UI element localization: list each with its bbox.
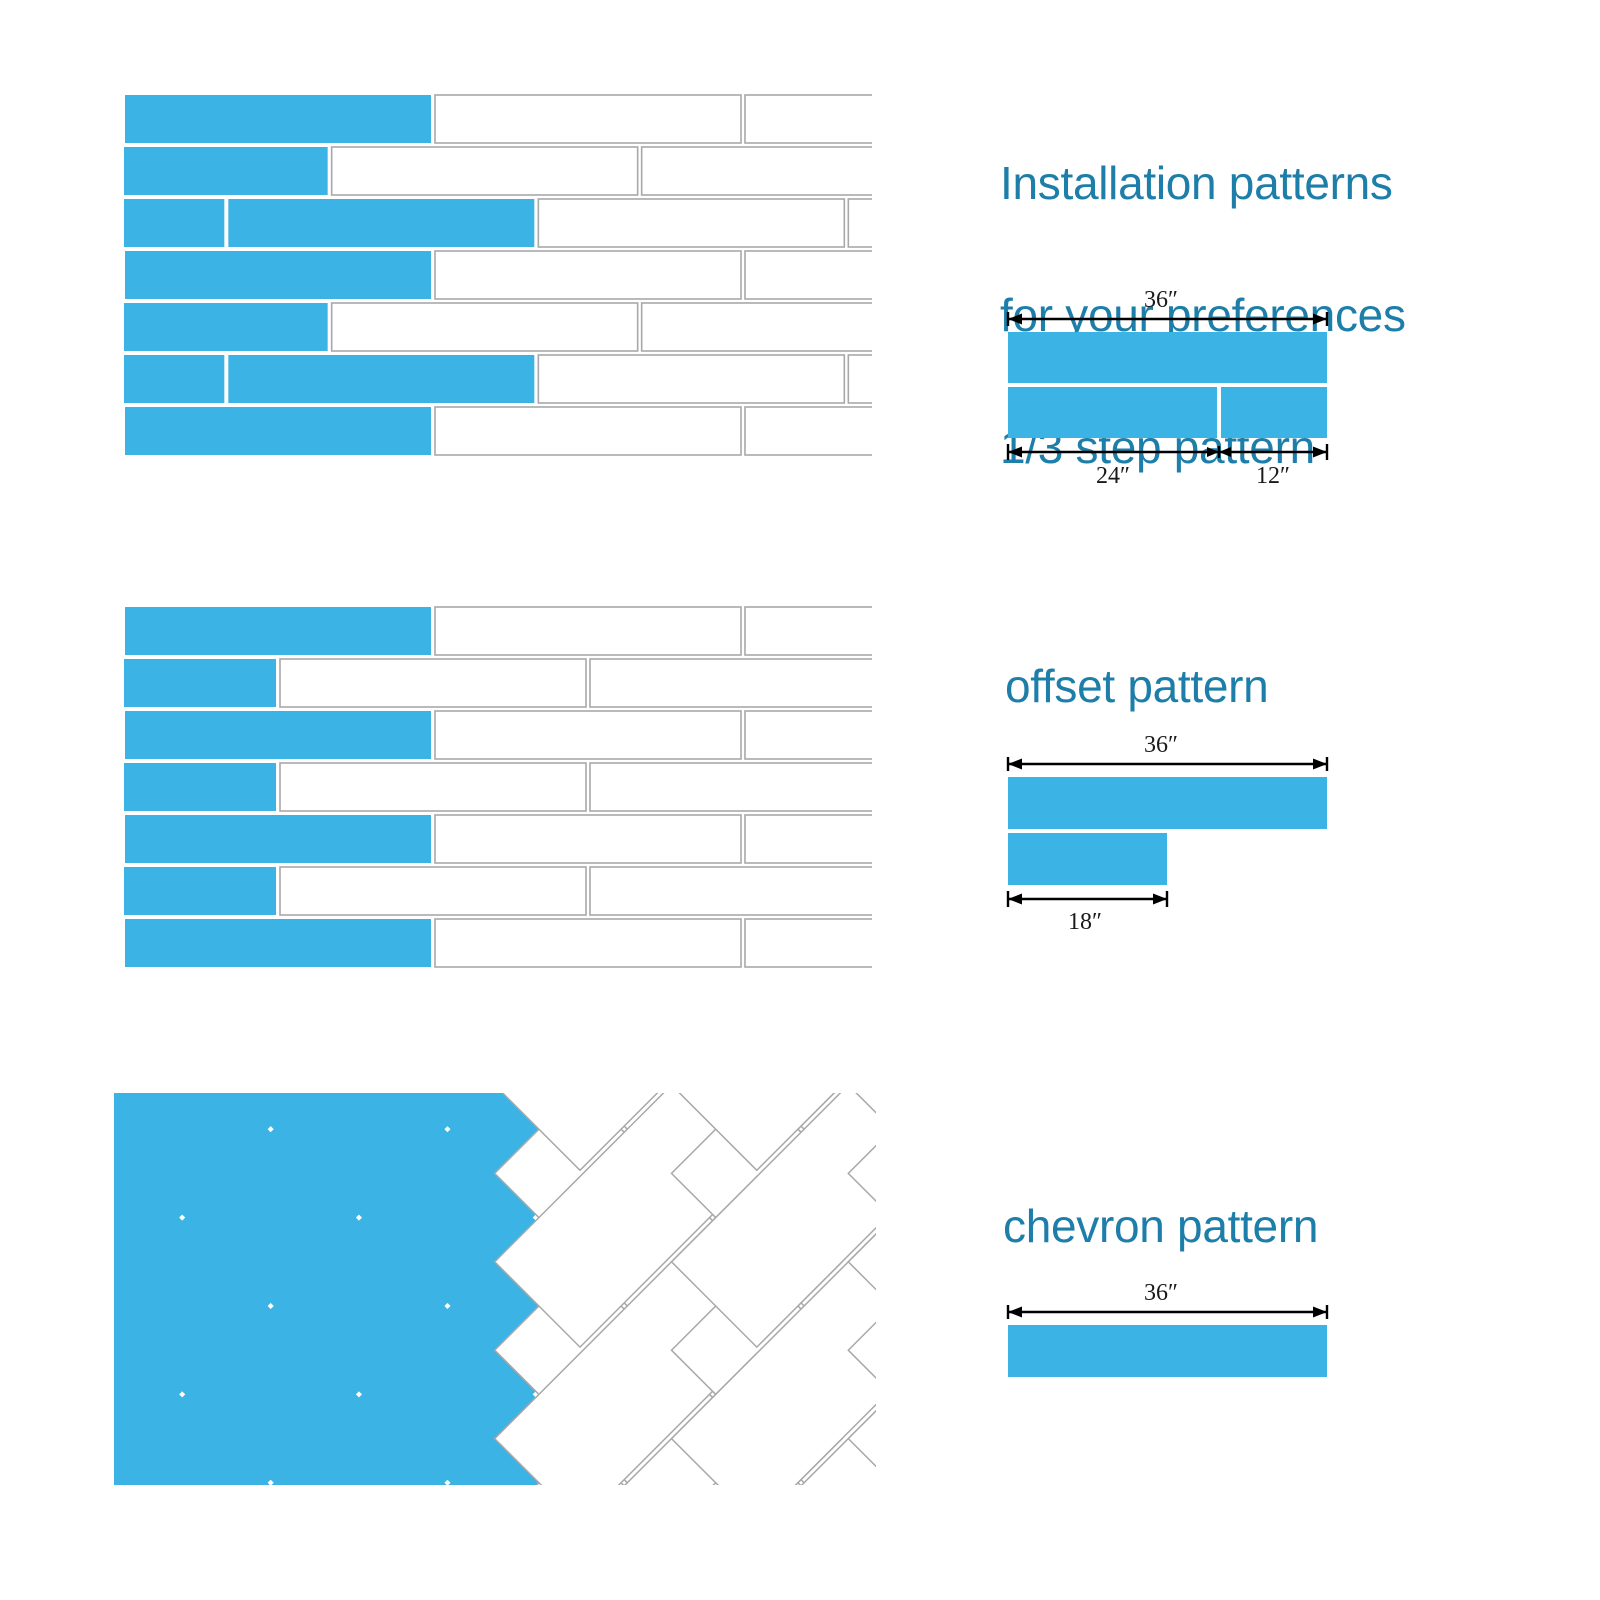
tile <box>745 919 880 967</box>
tile <box>125 407 431 455</box>
tile <box>745 407 880 455</box>
tile <box>110 815 121 863</box>
section-title-offset: offset pattern <box>1005 658 1268 714</box>
tile <box>745 607 880 655</box>
tile <box>125 815 431 863</box>
tile <box>745 251 880 299</box>
tile <box>125 919 431 967</box>
tile <box>332 303 638 351</box>
tile <box>110 147 328 195</box>
tile <box>110 407 121 455</box>
tile <box>435 251 741 299</box>
tile <box>110 355 224 403</box>
tile <box>435 919 741 967</box>
tile <box>110 867 276 915</box>
tile <box>228 355 534 403</box>
tile <box>538 199 844 247</box>
dim-label-24: 24″ <box>1096 463 1130 489</box>
tile <box>848 199 880 247</box>
tile <box>125 95 431 143</box>
dim-label-12: 12″ <box>1256 463 1290 489</box>
dim-label-18: 18″ <box>1068 909 1102 930</box>
tile <box>110 919 121 967</box>
tile <box>332 147 638 195</box>
tile <box>125 251 431 299</box>
tile <box>590 763 880 811</box>
tile <box>110 303 328 351</box>
tile <box>435 711 741 759</box>
dim-label-36-top-3: 36″ <box>1144 1280 1178 1306</box>
tile <box>110 607 121 655</box>
tile <box>745 815 880 863</box>
tile <box>435 95 741 143</box>
dim-label-36-top-2: 36″ <box>1144 732 1178 758</box>
tile <box>642 147 880 195</box>
tile <box>435 815 741 863</box>
dim-label-36-top-1: 36″ <box>1144 287 1178 313</box>
tile <box>745 95 880 143</box>
pattern-chevron-diagram <box>110 1085 880 1485</box>
dimension-drawing-step-third: 36″ 24″ 12″ <box>985 285 1385 500</box>
tile <box>280 867 586 915</box>
tile <box>110 251 121 299</box>
tile <box>110 711 121 759</box>
tile <box>125 607 431 655</box>
tile <box>228 199 534 247</box>
tile <box>280 659 586 707</box>
tile <box>538 355 844 403</box>
section-title-chevron-wrap: chevron pattern <box>1003 1198 1318 1254</box>
tile <box>642 303 880 351</box>
tile <box>110 659 276 707</box>
tile <box>110 199 224 247</box>
tile <box>125 711 431 759</box>
pattern-offset-diagram <box>110 592 880 992</box>
poster-canvas: Installation patterns for your preferenc… <box>0 0 1600 1600</box>
pattern-1-3-step-diagram <box>110 80 880 480</box>
section-title-offset-wrap: offset pattern <box>1005 658 1268 714</box>
tile <box>110 763 276 811</box>
tile <box>590 659 880 707</box>
headline-line-1: Installation patterns <box>1000 157 1393 209</box>
tile <box>435 407 741 455</box>
section-title-chevron: chevron pattern <box>1003 1198 1318 1254</box>
tile <box>848 355 880 403</box>
tile <box>280 763 586 811</box>
tile <box>745 711 880 759</box>
tile <box>435 607 741 655</box>
tile <box>110 95 121 143</box>
tile <box>590 867 880 915</box>
dimension-drawing-chevron: 36″ <box>985 1278 1385 1418</box>
dimension-drawing-offset: 36″ 18″ <box>985 730 1385 930</box>
